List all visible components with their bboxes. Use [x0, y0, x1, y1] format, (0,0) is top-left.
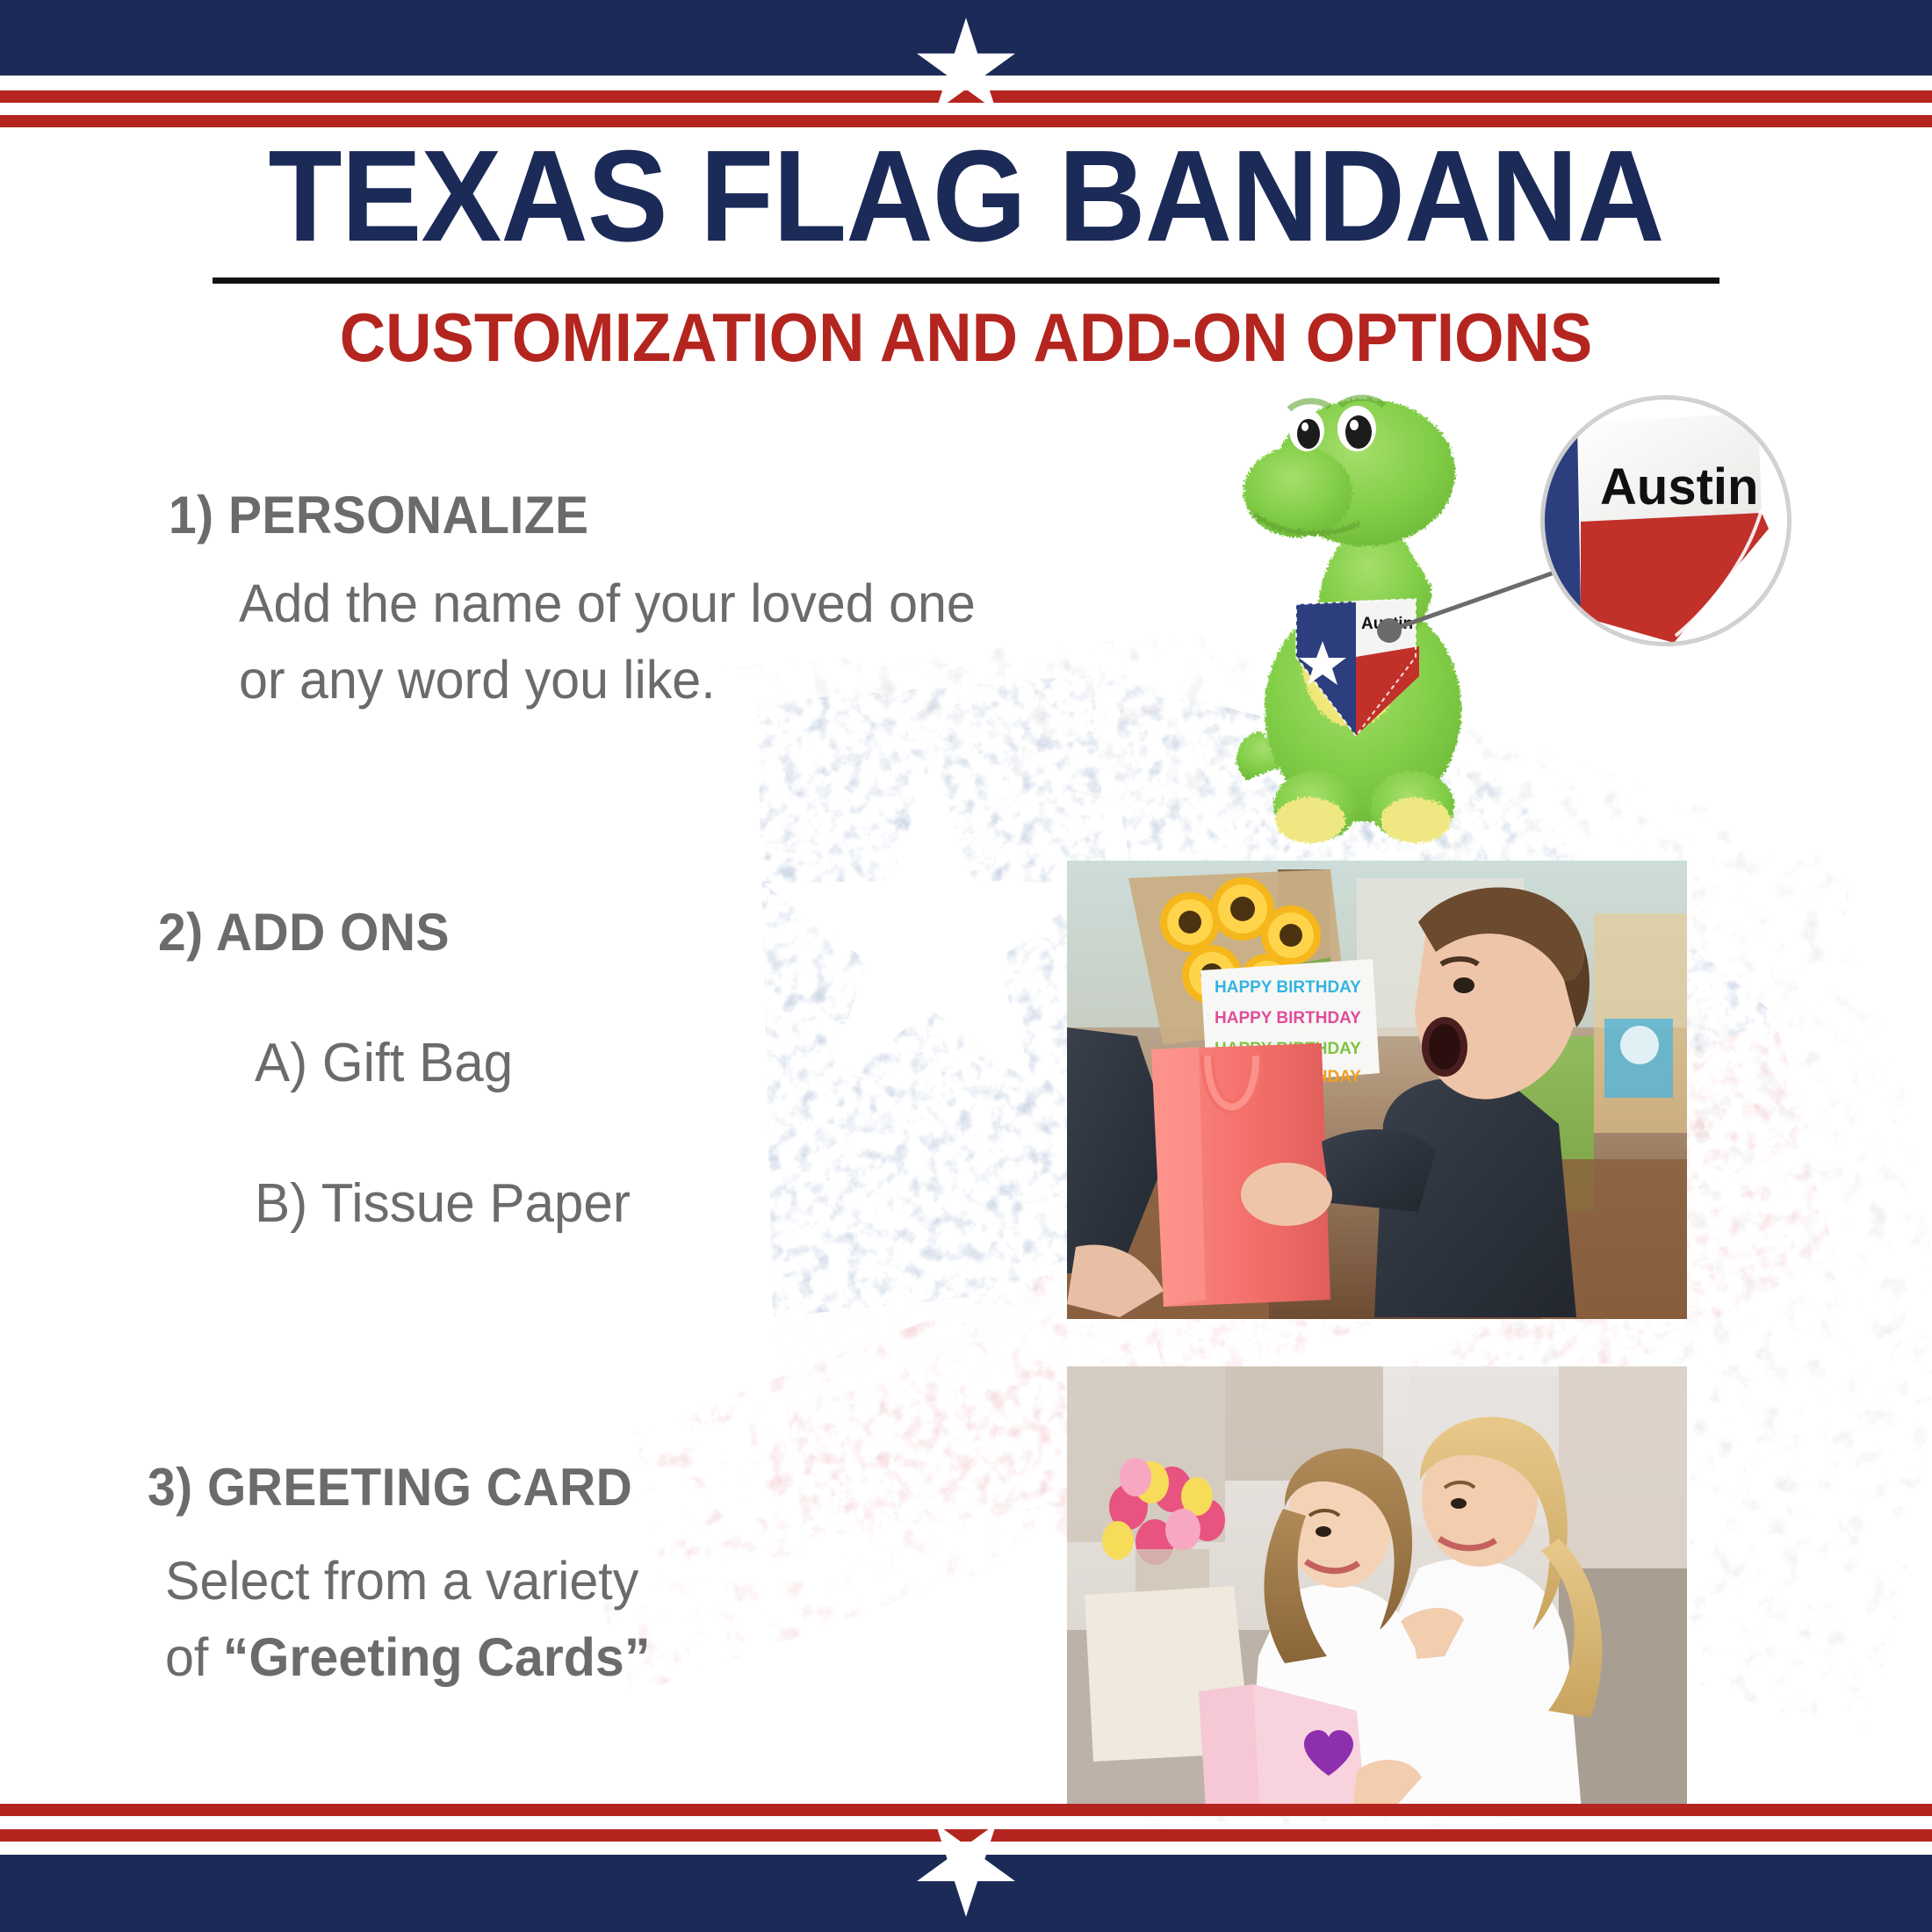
section-add-ons: 2) ADD ONS	[158, 905, 465, 960]
greeting-card-photo	[1067, 1366, 1687, 1811]
greeting-card-scene-icon	[1067, 1366, 1687, 1811]
top-star-icon	[917, 18, 1015, 112]
section-1-body-line-1: Add the name of your loved one	[239, 566, 976, 642]
title-divider	[213, 278, 1719, 284]
section-personalize: 1) PERSONALIZE Add the name of your love…	[169, 487, 998, 717]
add-on-option-a[interactable]: A) Gift Bag	[255, 1036, 513, 1091]
bottom-star-icon	[917, 1822, 1015, 1917]
section-3-body-prefix: of	[165, 1627, 223, 1687]
magnified-bandana-icon: Austin	[1542, 397, 1790, 645]
top-red-stripe-1	[0, 90, 1932, 103]
gift-bag-photo: HAPPY BIRTHDAY HAPPY BIRTHDAY HAPPY BIRT…	[1067, 861, 1687, 1319]
section-3-body-line-1: Select from a variety	[165, 1543, 650, 1619]
section-greeting-card: 3) GREETING CARD Select from a variety o…	[148, 1460, 666, 1695]
wrapping-text-1: HAPPY BIRTHDAY	[1215, 978, 1361, 997]
section-1-body-line-2: or any word you like.	[239, 642, 976, 718]
section-1-heading: 1) PERSONALIZE	[169, 487, 957, 543]
title-block: TEXAS FLAG BANDANA CUSTOMIZATION AND ADD…	[0, 132, 1932, 371]
magnifier-name-text: Austin	[1600, 458, 1758, 515]
page-subtitle: CUSTOMIZATION AND ADD-ON OPTIONS	[68, 303, 1864, 371]
bandana-name-text: Austin	[1361, 615, 1413, 633]
bottom-red-stripe-2	[0, 1829, 1932, 1842]
section-3-body: Select from a variety of “Greeting Cards…	[165, 1543, 650, 1695]
bottom-flag-banner	[0, 1791, 1932, 1932]
section-1-body: Add the name of your loved one or any wo…	[239, 566, 976, 717]
top-flag-banner	[0, 0, 1932, 141]
section-2-heading: 2) ADD ONS	[158, 905, 450, 960]
dinosaur-plush-image: Austin	[1212, 367, 1519, 859]
green-dinosaur-icon: Austin	[1212, 367, 1519, 859]
bottom-navy-band	[0, 1855, 1932, 1932]
section-3-body-quoted: “Greeting Cards”	[223, 1627, 651, 1687]
gift-bag-scene-icon: HAPPY BIRTHDAY HAPPY BIRTHDAY HAPPY BIRT…	[1067, 861, 1687, 1319]
page-title: TEXAS FLAG BANDANA	[68, 132, 1864, 262]
section-3-body-line-2: of “Greeting Cards”	[165, 1619, 650, 1696]
add-on-option-b[interactable]: B) Tissue Paper	[255, 1177, 631, 1231]
wrapping-text-2: HAPPY BIRTHDAY	[1215, 1009, 1361, 1027]
top-navy-band	[0, 0, 1932, 76]
bandana-magnifier-callout: Austin	[1542, 397, 1790, 645]
section-3-heading: 3) GREETING CARD	[148, 1460, 639, 1515]
